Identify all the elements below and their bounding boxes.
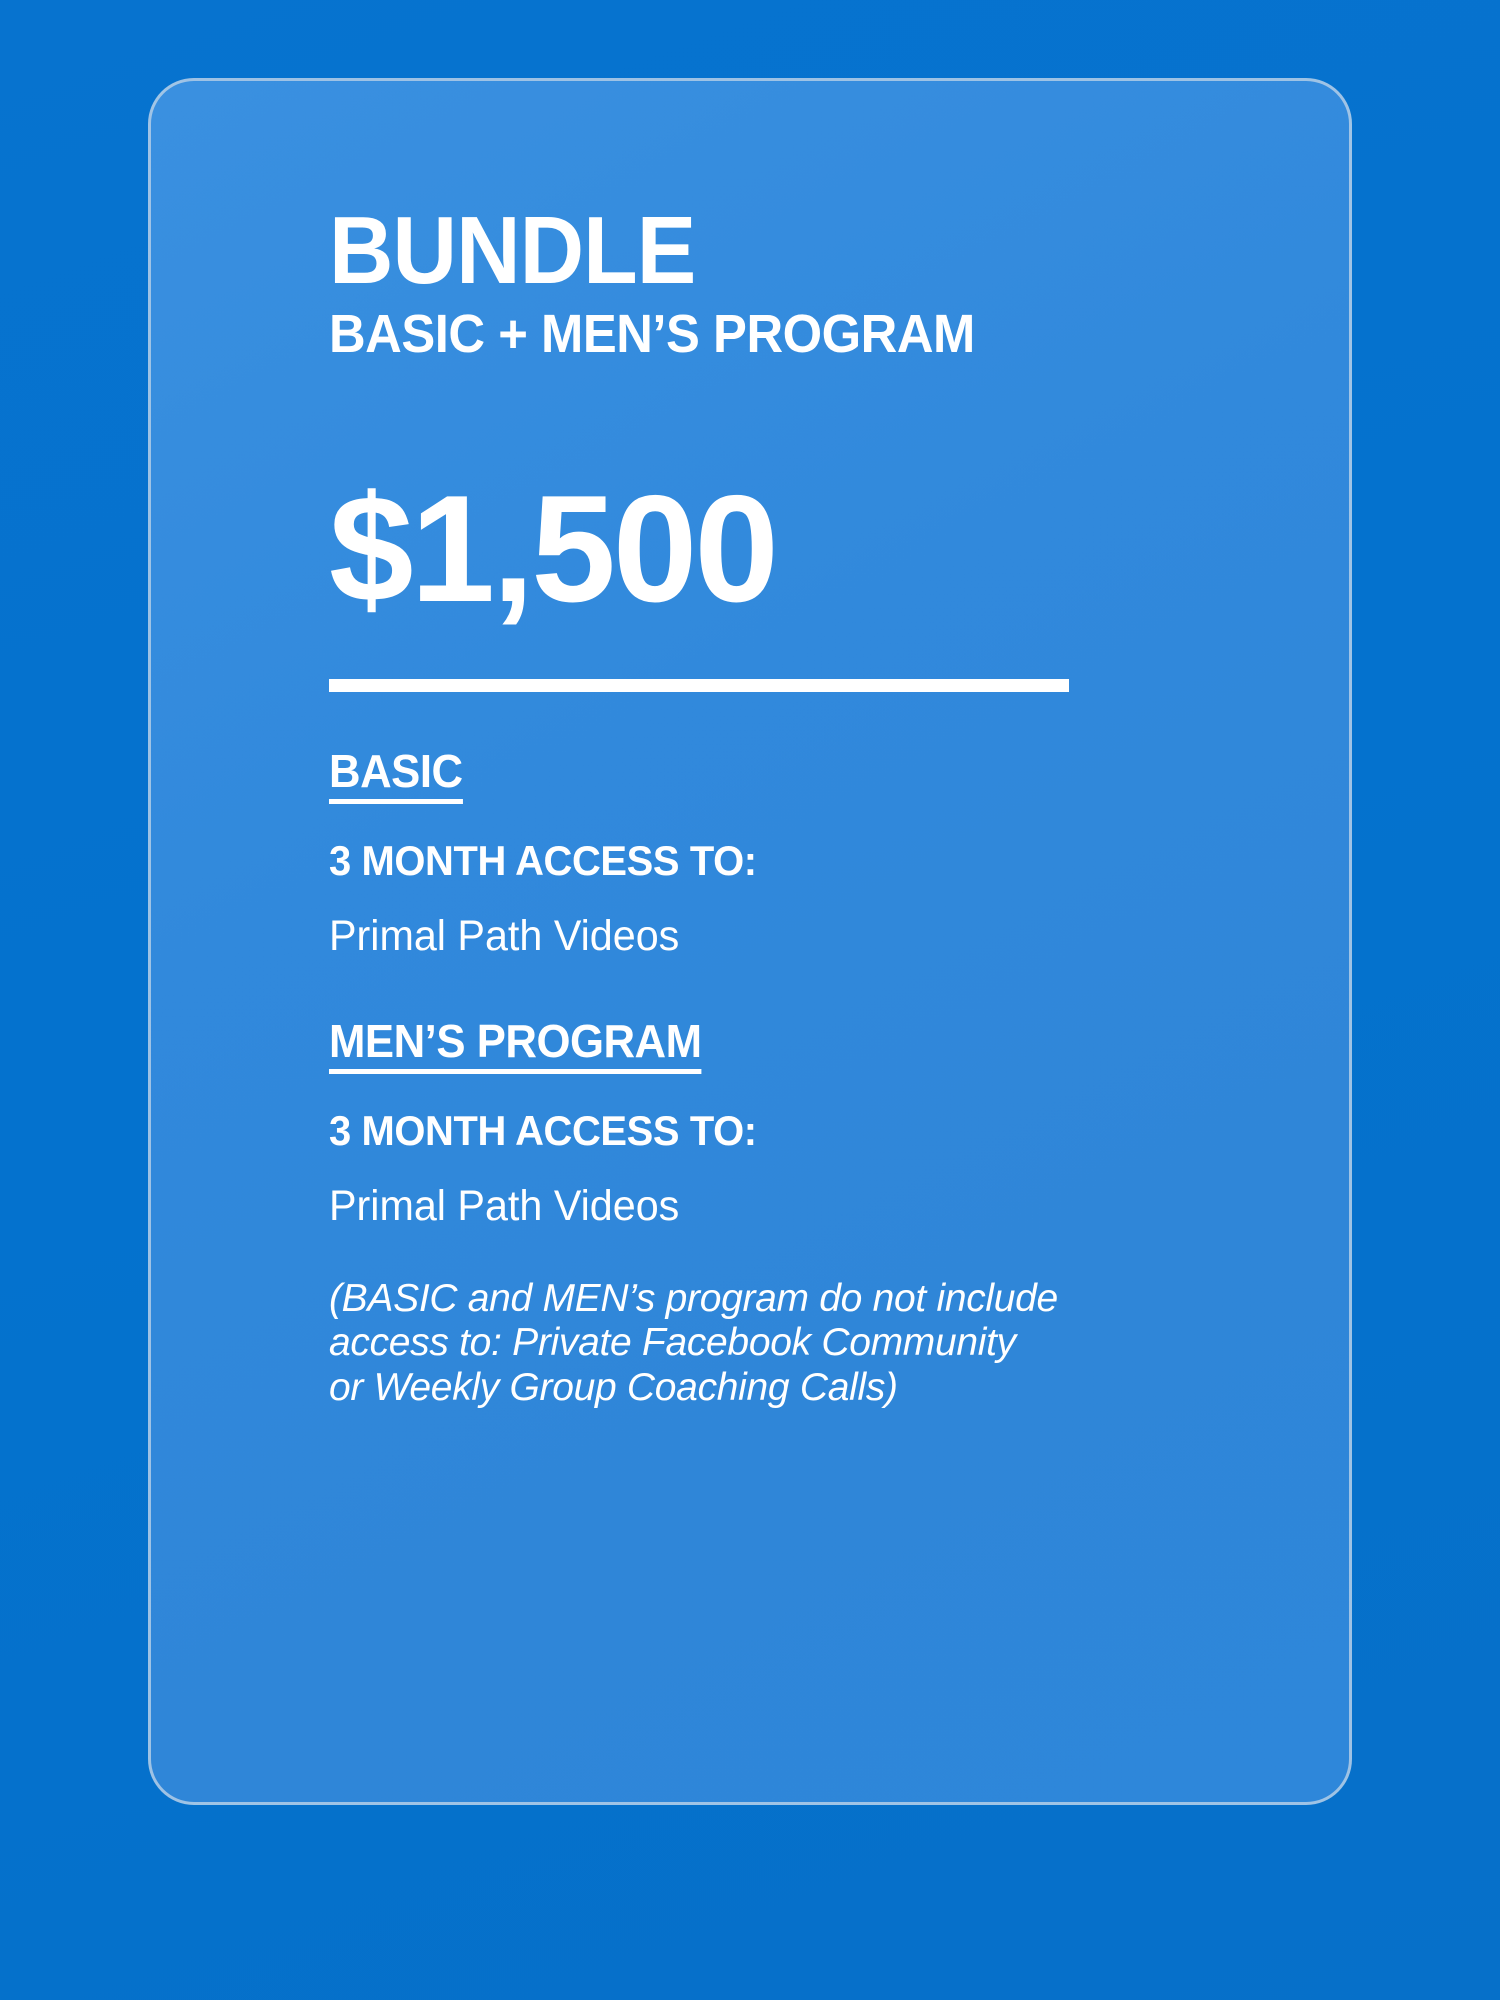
plan-section-mens: MEN’S PROGRAM 3 MONTH ACCESS TO: Primal …: [329, 1017, 1289, 1230]
price-divider: [329, 679, 1069, 692]
exclusions-footnote: (BASIC and MEN’s program do not include …: [329, 1277, 1229, 1410]
page-background: BUNDLE BASIC + MEN’S PROGRAM $1,500 BASI…: [0, 0, 1500, 2000]
card-header: BUNDLE BASIC + MEN’S PROGRAM: [329, 205, 1309, 362]
plan-access-label-mens: 3 MONTH ACCESS TO:: [329, 1108, 1241, 1153]
pricing-card-content: BUNDLE BASIC + MEN’S PROGRAM $1,500 BASI…: [151, 81, 1349, 1802]
plan-item-basic-0: Primal Path Videos: [329, 913, 1251, 960]
price-amount: $1,500: [329, 473, 776, 625]
footnote-line-2: access to: Private Facebook Community: [329, 1321, 1229, 1365]
footnote-line-3: or Weekly Group Coaching Calls): [329, 1366, 1229, 1410]
bundle-title: BUNDLE: [329, 205, 1240, 297]
plan-name-mens: MEN’S PROGRAM: [329, 1017, 702, 1074]
footnote-line-1: (BASIC and MEN’s program do not include: [329, 1277, 1229, 1321]
plan-item-mens-0: Primal Path Videos: [329, 1183, 1251, 1230]
plan-name-basic: BASIC: [329, 747, 463, 804]
pricing-card: BUNDLE BASIC + MEN’S PROGRAM $1,500 BASI…: [148, 78, 1352, 1805]
bundle-subtitle: BASIC + MEN’S PROGRAM: [329, 307, 1250, 362]
plan-access-label-basic: 3 MONTH ACCESS TO:: [329, 838, 1241, 883]
plan-section-basic: BASIC 3 MONTH ACCESS TO: Primal Path Vid…: [329, 747, 1289, 960]
